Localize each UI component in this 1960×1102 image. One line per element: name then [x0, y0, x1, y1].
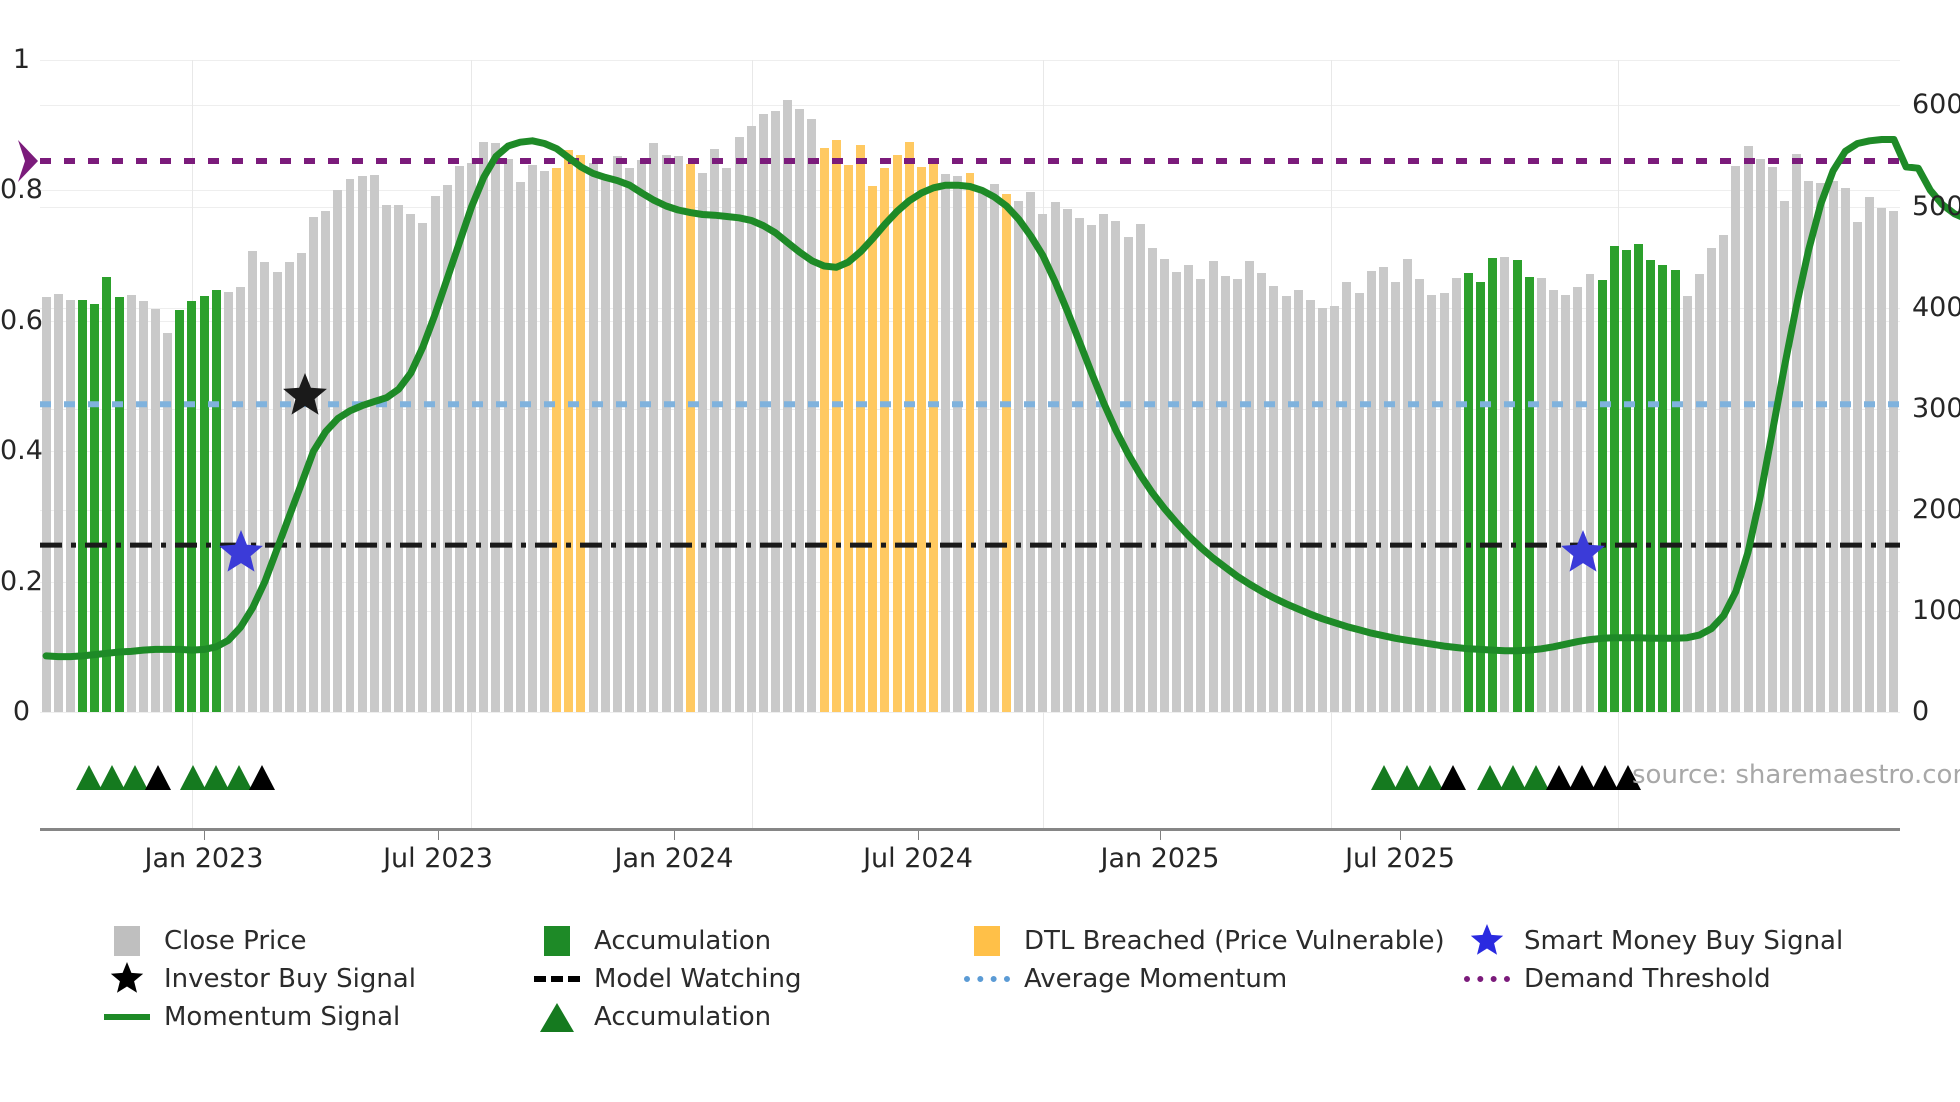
x-tick-mark	[204, 831, 205, 840]
y-axis-left-label: 0.8	[0, 176, 30, 203]
black-dashed-line-swatch	[534, 976, 580, 982]
x-tick-mark	[674, 831, 675, 840]
smart-money-buy-signal-marker	[1561, 530, 1605, 572]
investor-buy-signal-marker	[283, 373, 327, 415]
y-axis-right-label: 4000	[1912, 294, 1960, 321]
y-axis-left-label: 0.2	[0, 568, 30, 595]
x-tick-mark	[1400, 831, 1401, 840]
y-axis-right-label: 0	[1912, 698, 1929, 725]
momentum-signal-line	[46, 140, 1960, 657]
y-axis-right-label: 3000	[1912, 395, 1960, 422]
orange-square-swatch	[964, 926, 1010, 956]
green-line-swatch	[104, 1014, 150, 1020]
x-axis-spine	[40, 828, 1900, 831]
grey-square-swatch	[104, 926, 150, 956]
chart-root: Jan 2023Jul 2023Jan 2024Jul 2024Jan 2025…	[0, 0, 1960, 1102]
y-axis-right-label: 2000	[1912, 496, 1960, 523]
x-tick-mark	[1160, 831, 1161, 840]
legend-item[interactable]: Momentum Signal	[104, 998, 534, 1036]
legend-label: Close Price	[164, 928, 307, 954]
x-axis-label: Jan 2025	[1060, 845, 1260, 872]
legend-label: Smart Money Buy Signal	[1524, 928, 1843, 954]
plot-area	[40, 60, 1900, 712]
x-axis-label: Jan 2024	[574, 845, 774, 872]
legend-label: Average Momentum	[1024, 966, 1287, 992]
legend-item[interactable]: Accumulation	[534, 998, 964, 1036]
y-axis-right-label: 1000	[1912, 597, 1960, 624]
y-axis-right-label: 6000	[1912, 91, 1960, 118]
model-watching-triangle-icon	[145, 765, 171, 790]
y-axis-left-label: 0	[0, 698, 30, 725]
x-tick-mark	[918, 831, 919, 840]
legend-item[interactable]: Demand Threshold	[1464, 960, 1904, 998]
legend-label: Demand Threshold	[1524, 966, 1771, 992]
green-square-swatch	[534, 926, 580, 956]
y-axis-left-label: 1	[0, 46, 30, 73]
y-axis-left-label: 0.6	[0, 307, 30, 334]
legend-label: Investor Buy Signal	[164, 966, 416, 992]
legend-item[interactable]: Smart Money Buy Signal	[1464, 922, 1904, 960]
source-attribution: source: sharemaestro.com	[1632, 760, 1960, 790]
legend-item[interactable]: Accumulation	[534, 922, 964, 960]
legend: Close PriceAccumulationDTL Breached (Pri…	[104, 922, 1904, 1036]
model-watching-triangle-icon	[249, 765, 275, 790]
legend-label: Accumulation	[594, 1004, 771, 1030]
x-axis-label: Jul 2023	[338, 845, 538, 872]
legend-label: Momentum Signal	[164, 1004, 400, 1030]
legend-item[interactable]: Average Momentum	[964, 960, 1464, 998]
blue-star-swatch	[1464, 923, 1510, 959]
legend-label: DTL Breached (Price Vulnerable)	[1024, 928, 1445, 954]
smart-money-buy-signal-marker	[219, 530, 263, 572]
legend-item[interactable]: Close Price	[104, 922, 534, 960]
legend-label: Accumulation	[594, 928, 771, 954]
purple-dotted-line-swatch	[1464, 976, 1510, 982]
y-axis-right-label: 5000	[1912, 193, 1960, 220]
x-axis-label: Jan 2023	[104, 845, 304, 872]
legend-item[interactable]: DTL Breached (Price Vulnerable)	[964, 922, 1464, 960]
x-axis-label: Jul 2025	[1300, 845, 1500, 872]
legend-item[interactable]: Model Watching	[534, 960, 964, 998]
blue-dotted-line-swatch	[964, 976, 1010, 982]
model-watching-triangle-icon	[1440, 765, 1466, 790]
legend-item[interactable]: Investor Buy Signal	[104, 960, 534, 998]
black-star-swatch	[104, 961, 150, 997]
x-tick-mark	[438, 831, 439, 840]
y-axis-left-label: 0.4	[0, 437, 30, 464]
green-triangle-swatch	[534, 1003, 580, 1032]
legend-label: Model Watching	[594, 966, 801, 992]
x-axis-label: Jul 2024	[818, 845, 1018, 872]
